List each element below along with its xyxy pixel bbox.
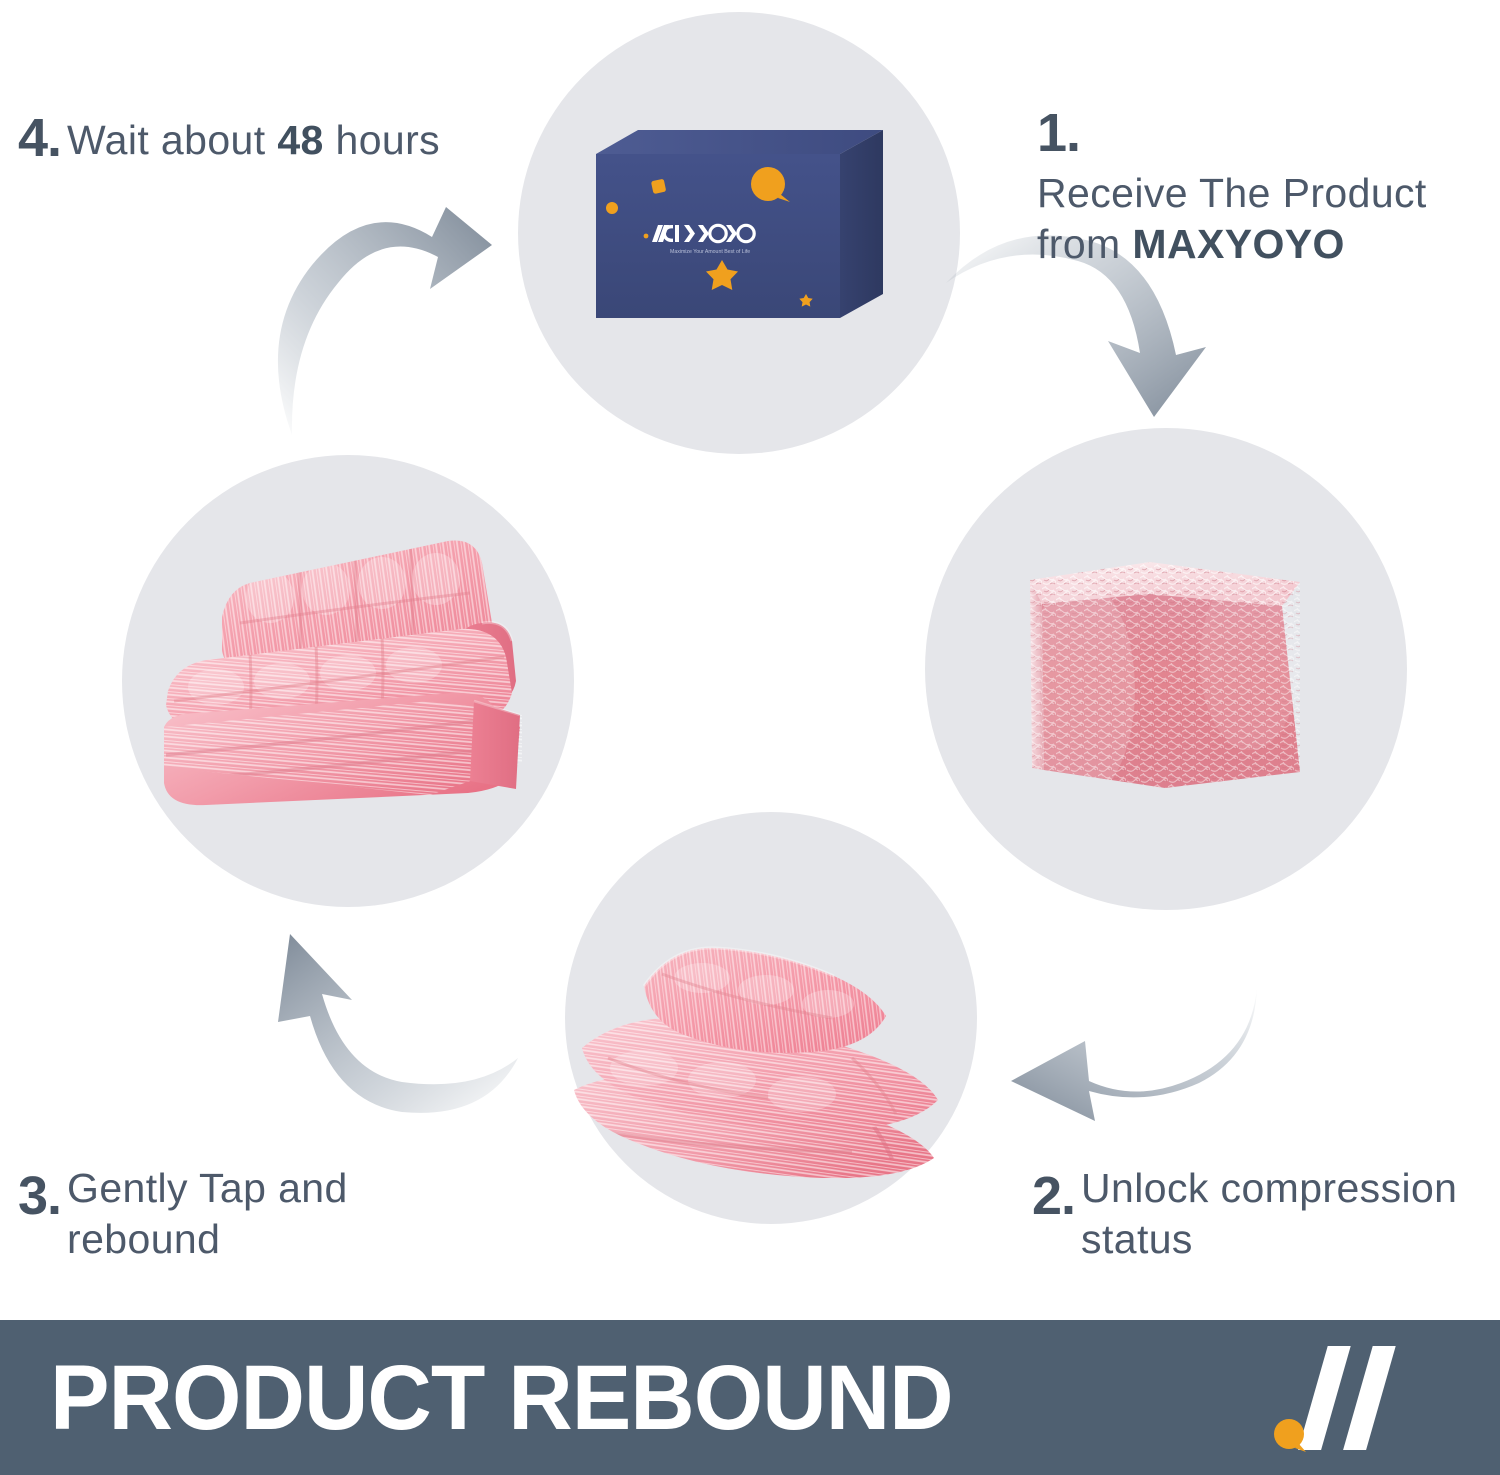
orange-dot-icon xyxy=(606,202,618,214)
step-2-line-2: status xyxy=(1081,1214,1457,1265)
step-2-label: 2.Unlock compressionstatus xyxy=(1032,1163,1472,1266)
step-3-line-1: Gently Tap and xyxy=(67,1165,348,1211)
orange-square-icon xyxy=(651,179,666,194)
step-1-brand: MAXYOYO xyxy=(1132,221,1344,267)
folded-side-panel xyxy=(470,701,520,789)
compressed-block-illustration xyxy=(1000,520,1330,820)
step-2-number: 2. xyxy=(1032,1166,1075,1226)
orange-dot-icon xyxy=(1274,1419,1306,1452)
box-tagline: Maximize Your Amount Best of Life xyxy=(670,249,750,255)
banner-title: PRODUCT REBOUND xyxy=(50,1352,953,1444)
shipping-box-illustration: Maximize Your Amount Best of Life xyxy=(590,118,890,343)
step-4-hours-value: 48 xyxy=(277,117,323,163)
step-4-label: 4.Wait about 48 hours xyxy=(18,105,498,173)
arrow-step3-to-step4-icon xyxy=(248,930,523,1145)
infographic-stage: Maximize Your Amount Best of Life xyxy=(0,0,1500,1475)
arrow-step2-to-step3-icon xyxy=(985,985,1260,1150)
step-4-text-after: hours xyxy=(324,117,440,163)
step-4-text-before: Wait about xyxy=(67,117,277,163)
bottom-banner: PRODUCT REBOUND xyxy=(0,1320,1500,1475)
step-4-number: 4. xyxy=(18,108,61,168)
step-3-number: 3. xyxy=(18,1166,61,1226)
step-3-line-2: rebound xyxy=(67,1214,348,1265)
step-3-label: 3.Gently Tap andrebound xyxy=(18,1163,418,1266)
arrow-step4-to-step1-icon xyxy=(250,185,495,440)
step-1-line-1: Receive The Product xyxy=(1037,170,1427,216)
step-1-label: 1.Receive The Productfrom MAXYOYO xyxy=(1037,100,1467,270)
step-1-line-2-prefix: from xyxy=(1037,221,1132,267)
folded-cushion-illustration xyxy=(552,908,972,1178)
step-2-line-1: Unlock compression xyxy=(1081,1165,1457,1211)
maxyoyo-logo-mark xyxy=(1273,1338,1448,1458)
pink-floor-sofa-illustration xyxy=(130,505,580,815)
step-1-number: 1. xyxy=(1037,103,1080,163)
